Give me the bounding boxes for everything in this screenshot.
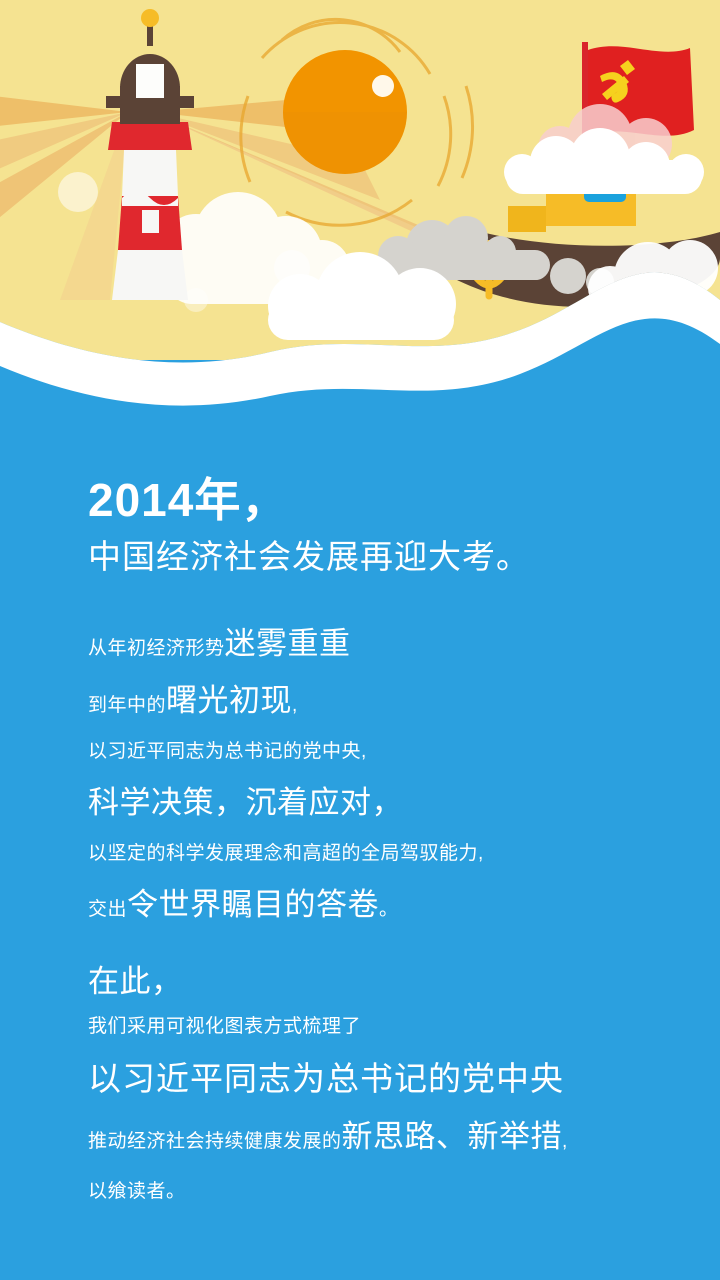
body-line-1: 从年初经济形势迷雾重重 bbox=[88, 628, 636, 659]
body-line-2-tail: , bbox=[292, 695, 298, 716]
paragraph-block-2: 在此， 我们采用可视化图表方式梳理了 以习近平同志为总书记的党中央 推动经济社会… bbox=[88, 966, 636, 1201]
body-line-3: 以习近平同志为总书记的党中央, bbox=[88, 742, 636, 761]
body2-line-2: 我们采用可视化图表方式梳理了 bbox=[88, 1017, 636, 1036]
paragraph-block-1: 从年初经济形势迷雾重重 到年中的曙光初现, 以习近平同志为总书记的党中央, 科学… bbox=[88, 628, 636, 920]
body-line-6: 交出令世界瞩目的答卷。 bbox=[88, 889, 636, 920]
body2-line-3: 以习近平同志为总书记的党中央 bbox=[88, 1062, 636, 1095]
hero-illustration bbox=[0, 0, 720, 420]
headline-year-comma: ， bbox=[241, 474, 288, 526]
body2-line-4-tail: , bbox=[562, 1131, 568, 1152]
body-line-6-tail: 。 bbox=[379, 899, 399, 920]
body-line-1-large: 迷雾重重 bbox=[225, 626, 351, 661]
body-line-2-large: 曙光初现 bbox=[166, 683, 292, 718]
page-title: 2014年， bbox=[88, 475, 636, 527]
body-line-2: 到年中的曙光初现, bbox=[88, 685, 636, 716]
poster-text-content: 2014年， 中国经济社会发展再迎大考。 从年初经济形势迷雾重重 到年中的曙光初… bbox=[0, 420, 720, 1201]
body-line-2-small: 到年中的 bbox=[88, 695, 166, 716]
sun-highlight bbox=[372, 75, 394, 97]
body2-line-1: 在此， bbox=[88, 966, 636, 997]
body2-line-4-large: 新思路、新举措 bbox=[342, 1119, 563, 1154]
body2-line-4-small: 推动经济社会持续健康发展的 bbox=[88, 1131, 342, 1152]
body-line-6-large: 令世界瞩目的答卷 bbox=[127, 887, 379, 922]
body-line-5: 以坚定的科学发展理念和高超的全局驾驭能力, bbox=[88, 844, 636, 863]
body-line-6-small: 交出 bbox=[88, 899, 127, 920]
body-line-4: 科学决策，沉着应对， bbox=[88, 787, 636, 818]
body2-line-5: 以飨读者。 bbox=[88, 1182, 636, 1201]
body-line-1-small: 从年初经济形势 bbox=[88, 638, 225, 659]
poster-root: 2014年， 中国经济社会发展再迎大考。 从年初经济形势迷雾重重 到年中的曙光初… bbox=[0, 0, 720, 1280]
page-subtitle: 中国经济社会发展再迎大考。 bbox=[88, 537, 636, 577]
body2-line-4: 推动经济社会持续健康发展的新思路、新举措, bbox=[88, 1121, 636, 1152]
headline-year: 2014年 bbox=[88, 474, 241, 526]
